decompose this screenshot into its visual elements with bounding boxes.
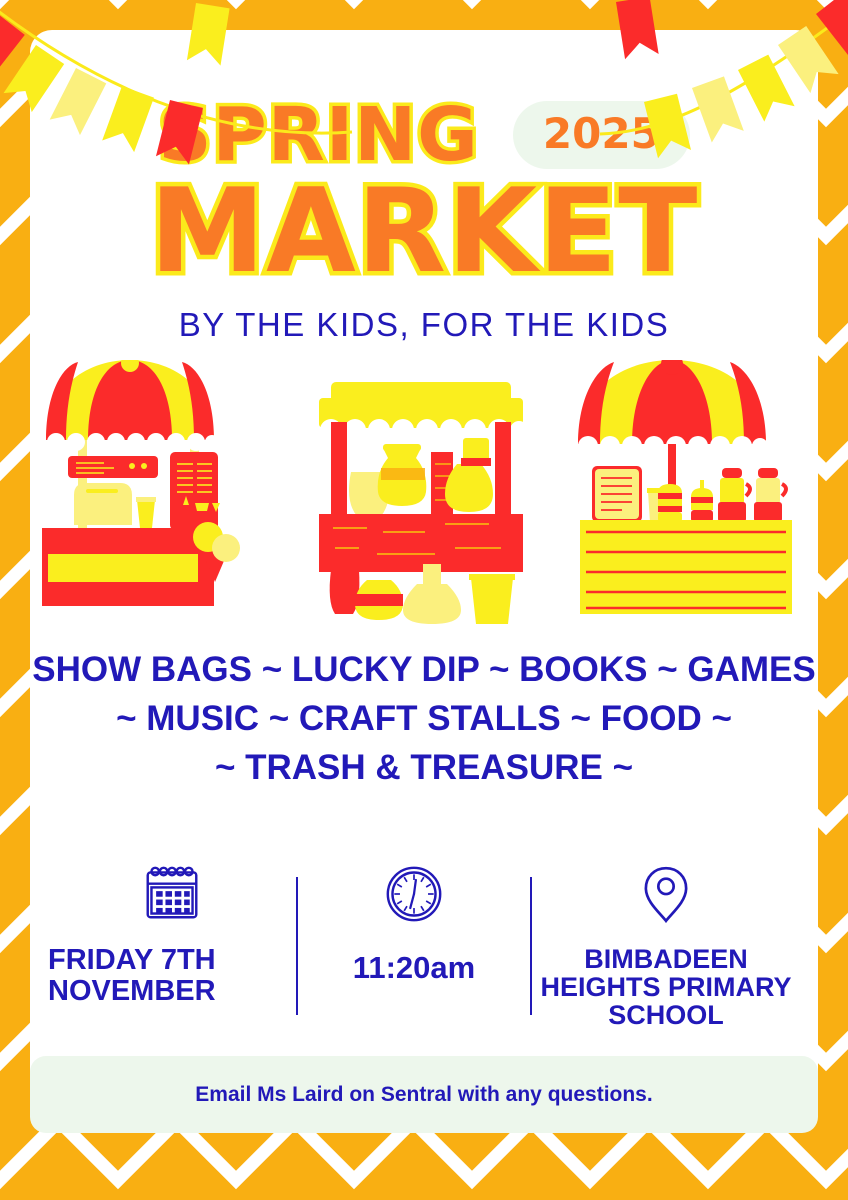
dispenser-2 [754,468,786,522]
year-badge: 2025 [513,101,690,169]
activities-line-1: SHOW BAGS ~ LUCKY DIP ~ BOOKS ~ GAMES [30,645,818,694]
ice-cream-stall-illustration [42,360,240,606]
event-date-block: FRIDAY 7TH NOVEMBER [48,865,296,1065]
year-label: 2025 [543,113,660,155]
footer-banner: Email Ms Laird on Sentral with any quest… [30,1056,818,1133]
footer-text: Email Ms Laird on Sentral with any quest… [195,1083,652,1107]
burger-1 [658,484,682,522]
flask-lower [403,564,461,624]
pot-lower [355,580,403,620]
event-location-label: BIMBADEEN HEIGHTS PRIMARY SCHOOL [532,945,800,1029]
activities-line-2: ~ MUSIC ~ CRAFT STALLS ~ FOOD ~ [30,694,818,743]
dispenser-1 [718,468,750,522]
event-date-label: FRIDAY 7TH NOVEMBER [48,945,296,1007]
title-block: SPRING 2025 MARKET BY THE KIDS, FOR THE … [0,92,848,344]
page-title-line2: MARKET [0,174,848,290]
burger-2 [691,480,713,522]
activities-line-3: ~ TRASH & TREASURE ~ [30,743,818,792]
activities-list: SHOW BAGS ~ LUCKY DIP ~ BOOKS ~ GAMES ~ … [30,645,818,792]
cup-lower [469,574,515,624]
event-time-label: 11:20am [353,953,475,983]
calendar-icon [143,865,201,931]
food-stall-illustration [578,360,792,614]
event-time-block: 11:20am [298,865,530,1065]
pottery-craft-stall-illustration [319,382,528,624]
poster-canvas: SPRING 2025 MARKET BY THE KIDS, FOR THE … [0,0,848,1200]
page-subtitle: BY THE KIDS, FOR THE KIDS [0,306,848,344]
event-location-block: BIMBADEEN HEIGHTS PRIMARY SCHOOL [532,865,800,1065]
location-pin-icon [643,865,689,931]
vase-large [378,444,427,506]
bottle-vase [445,438,493,512]
market-stalls-illustration [30,360,818,645]
event-details-row: FRIDAY 7TH NOVEMBER [48,865,800,1065]
clock-icon [385,865,443,931]
